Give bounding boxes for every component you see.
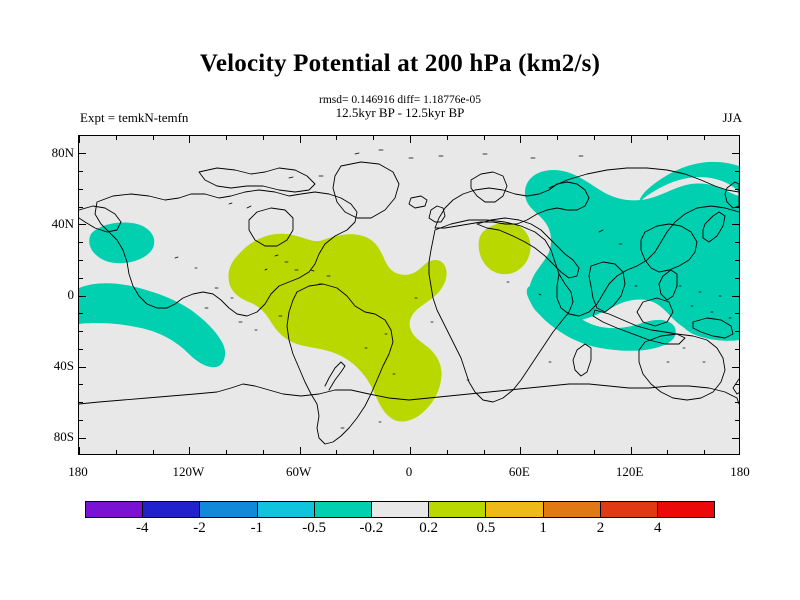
- coastline-greenland: [333, 162, 399, 218]
- y-minor-tick: [79, 260, 83, 261]
- x-major-tick: [79, 136, 80, 143]
- y-minor-tick: [735, 384, 739, 385]
- x-minor-tick: [226, 136, 227, 140]
- colorbar-segment: [257, 502, 314, 517]
- y-minor-tick: [79, 331, 83, 332]
- world-map: [79, 136, 739, 454]
- y-tick-label: 40N: [30, 217, 74, 230]
- y-major-tick: [732, 224, 739, 225]
- y-minor-tick: [79, 349, 83, 350]
- x-minor-tick: [116, 450, 117, 454]
- x-minor-tick: [557, 136, 558, 140]
- colorbar-tick-label: -0.2: [346, 520, 396, 537]
- x-axis: 180120W60W060E120E180: [78, 462, 740, 480]
- y-major-tick: [79, 367, 86, 368]
- x-major-tick: [739, 447, 740, 454]
- x-major-tick: [739, 136, 740, 143]
- map-plot-area: [78, 135, 740, 455]
- y-major-tick: [732, 438, 739, 439]
- x-minor-tick: [373, 450, 374, 454]
- page-title: Velocity Potential at 200 hPa (km2/s): [0, 50, 800, 78]
- y-minor-tick: [735, 171, 739, 172]
- region-east-pacific-equatorial: [79, 283, 225, 367]
- x-major-tick: [631, 136, 632, 143]
- y-minor-tick: [735, 189, 739, 190]
- y-minor-tick: [79, 189, 83, 190]
- y-major-tick: [79, 296, 86, 297]
- colorbar-segment: [199, 502, 256, 517]
- x-tick-label: 180: [710, 465, 770, 478]
- coastline-scandinavia: [471, 172, 507, 202]
- x-minor-tick: [447, 136, 448, 140]
- colorbar-tick-label: 4: [633, 520, 683, 537]
- coastline-british-isles: [429, 206, 445, 222]
- x-major-tick: [189, 447, 190, 454]
- y-minor-tick: [79, 384, 83, 385]
- y-major-tick: [79, 153, 86, 154]
- colorbar-tick-label: -1: [232, 520, 282, 537]
- x-minor-tick: [484, 136, 485, 140]
- y-major-tick: [732, 153, 739, 154]
- x-minor-tick: [263, 450, 264, 454]
- x-major-tick: [520, 136, 521, 143]
- colorbar-segment: [371, 502, 428, 517]
- y-minor-tick: [79, 278, 83, 279]
- x-tick-label: 60W: [269, 465, 329, 478]
- x-tick-label: 120E: [600, 465, 660, 478]
- x-major-tick: [410, 136, 411, 143]
- y-major-tick: [79, 438, 86, 439]
- coastline-iceland: [409, 196, 427, 208]
- x-minor-tick: [116, 136, 117, 140]
- x-minor-tick: [373, 136, 374, 140]
- season-label: JJA: [722, 110, 742, 126]
- x-major-tick: [189, 136, 190, 143]
- y-tick-label: 80N: [30, 146, 74, 159]
- y-minor-tick: [735, 260, 739, 261]
- colorbar-segment: [86, 502, 142, 517]
- x-tick-label: 120W: [158, 465, 218, 478]
- y-minor-tick: [79, 313, 83, 314]
- colorbar-segment: [485, 502, 542, 517]
- y-minor-tick: [79, 420, 83, 421]
- x-minor-tick: [263, 136, 264, 140]
- y-major-tick: [732, 296, 739, 297]
- coastline-canadian-arctic: [199, 168, 315, 192]
- x-tick-label: 0: [379, 465, 439, 478]
- region-tropical-americas-atlantic: [228, 234, 446, 422]
- region-north-africa-sahara: [479, 223, 531, 275]
- x-minor-tick: [704, 450, 705, 454]
- x-minor-tick: [153, 450, 154, 454]
- y-minor-tick: [735, 331, 739, 332]
- x-major-tick: [300, 136, 301, 143]
- x-minor-tick: [667, 450, 668, 454]
- colorbar-labels: -4-2-1-0.5-0.20.20.5124: [85, 520, 715, 540]
- y-axis: 80N40N040S80S: [14, 135, 74, 455]
- experiment-label: Expt = temkN-temfn: [80, 110, 188, 126]
- coastline-madagascar: [573, 344, 591, 376]
- x-minor-tick: [484, 450, 485, 454]
- x-tick-label: 60E: [489, 465, 549, 478]
- y-minor-tick: [735, 420, 739, 421]
- x-minor-tick: [226, 450, 227, 454]
- x-minor-tick: [557, 450, 558, 454]
- x-minor-tick: [594, 450, 595, 454]
- colorbar-tick-label: -2: [175, 520, 225, 537]
- colorbar-tick-label: -0.5: [289, 520, 339, 537]
- x-minor-tick: [336, 450, 337, 454]
- y-minor-tick: [735, 278, 739, 279]
- colorbar-segment: [600, 502, 657, 517]
- y-minor-tick: [735, 349, 739, 350]
- x-tick-label: 180: [48, 465, 108, 478]
- y-minor-tick: [79, 402, 83, 403]
- x-major-tick: [300, 447, 301, 454]
- y-minor-tick: [79, 207, 83, 208]
- x-major-tick: [520, 447, 521, 454]
- x-minor-tick: [704, 136, 705, 140]
- y-minor-tick: [79, 171, 83, 172]
- x-minor-tick: [336, 136, 337, 140]
- y-major-tick: [732, 367, 739, 368]
- x-minor-tick: [594, 136, 595, 140]
- x-major-tick: [410, 447, 411, 454]
- colorbar-tick-label: -4: [117, 520, 167, 537]
- x-minor-tick: [667, 136, 668, 140]
- x-minor-tick: [447, 450, 448, 454]
- y-minor-tick: [735, 313, 739, 314]
- coastline-antarctic-peninsula: [325, 362, 345, 390]
- y-tick-label: 40S: [30, 359, 74, 372]
- y-minor-tick: [735, 402, 739, 403]
- colorbar-tick-label: 0.5: [461, 520, 511, 537]
- y-minor-tick: [79, 242, 83, 243]
- x-major-tick: [79, 447, 80, 454]
- x-minor-tick: [153, 136, 154, 140]
- colorbar: [85, 501, 715, 518]
- y-major-tick: [79, 224, 86, 225]
- colorbar-tick-label: 1: [518, 520, 568, 537]
- y-tick-label: 80S: [30, 430, 74, 443]
- region-south-atlantic-blob: [356, 356, 378, 370]
- colorbar-segment: [657, 502, 714, 517]
- x-major-tick: [631, 447, 632, 454]
- y-minor-tick: [735, 207, 739, 208]
- y-minor-tick: [735, 242, 739, 243]
- anomaly-fill-layer: [79, 162, 739, 422]
- colorbar-segment: [314, 502, 371, 517]
- colorbar-segment: [543, 502, 600, 517]
- colorbar-segment: [428, 502, 485, 517]
- y-tick-label: 0: [30, 288, 74, 301]
- region-north-central-pacific: [89, 222, 154, 263]
- figure-canvas: Velocity Potential at 200 hPa (km2/s) rm…: [0, 0, 800, 600]
- colorbar-segment: [142, 502, 199, 517]
- colorbar-tick-label: 2: [575, 520, 625, 537]
- colorbar-tick-label: 0.2: [404, 520, 454, 537]
